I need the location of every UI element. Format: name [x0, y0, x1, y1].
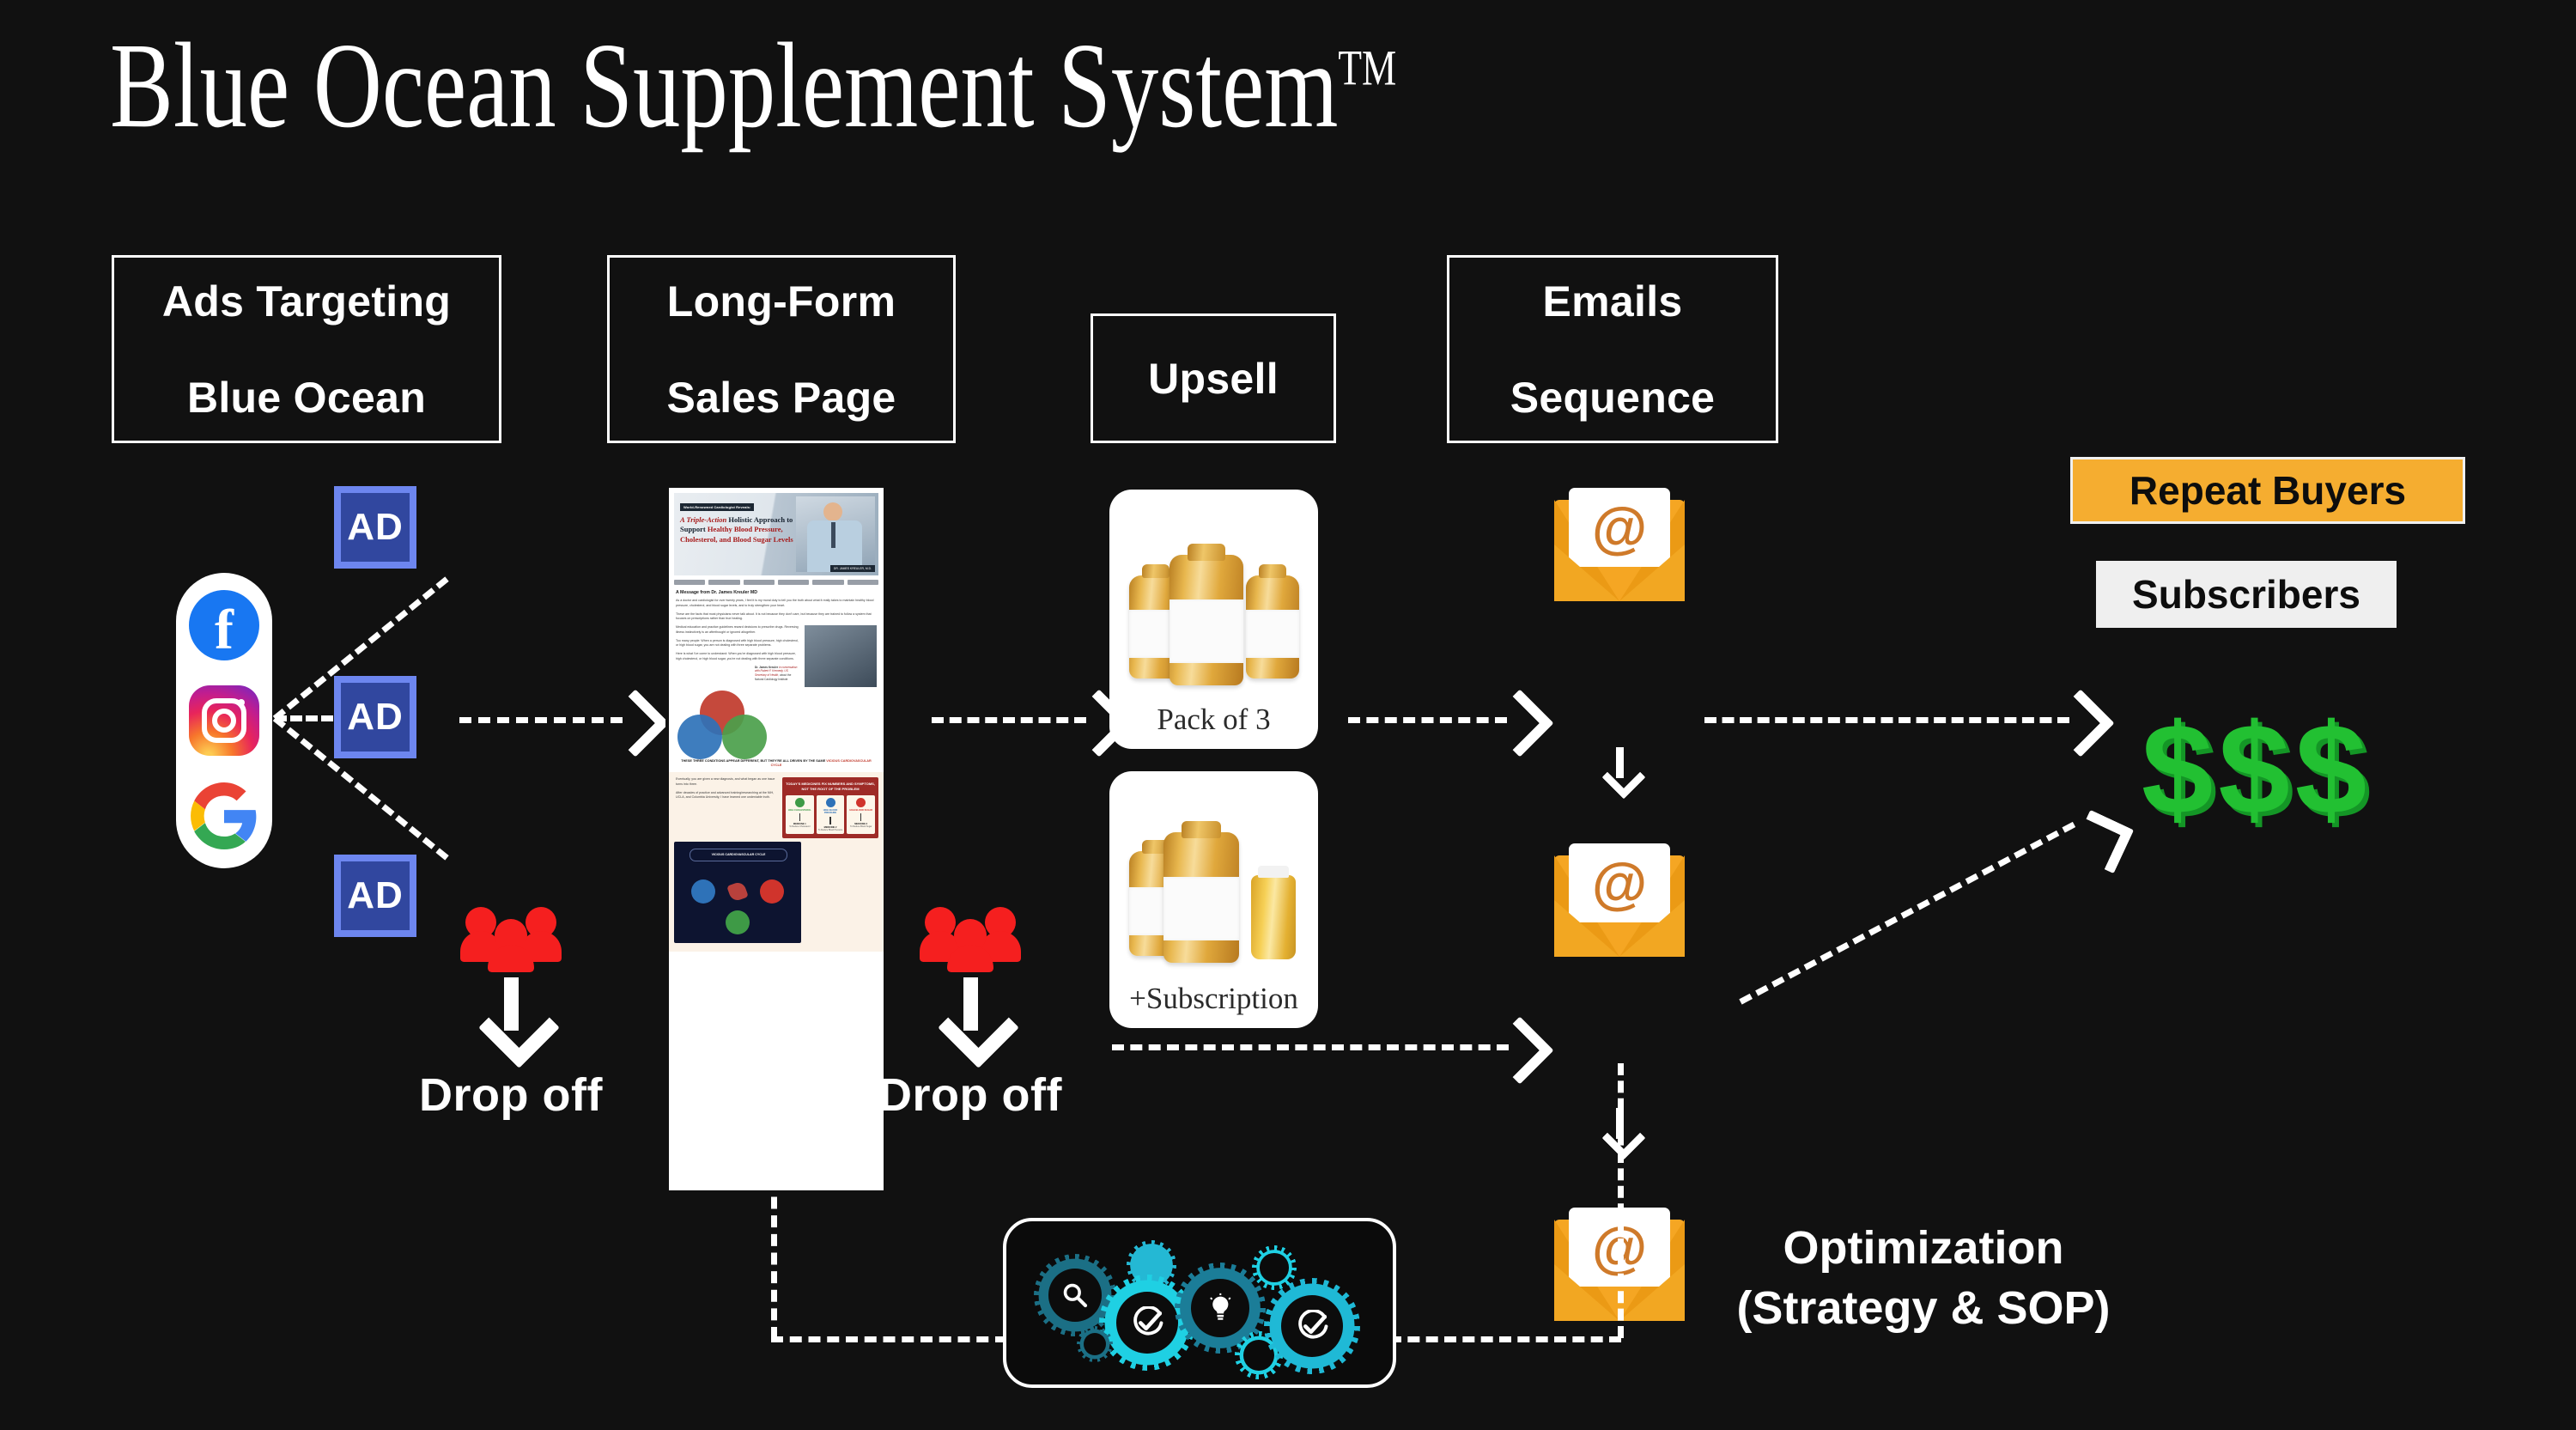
ad-tile-1-label: AD — [341, 493, 410, 562]
connector-upsell-to-emails — [1348, 717, 1507, 723]
cycle-infographic-title: VICIOUS CARDIOVASCULAR CYCLE — [690, 849, 787, 861]
instagram-lens — [212, 709, 236, 733]
drop-off-block-1: Drop off — [404, 902, 618, 1122]
bottles-group-2 — [1124, 813, 1304, 977]
connector-left-up — [771, 1123, 777, 1339]
trademark-symbol: TM — [1338, 40, 1396, 96]
page-title-text: Blue Ocean Supplement System — [110, 17, 1338, 153]
doctor-photo — [796, 496, 875, 572]
venn-caption: THESE THREE CONDITIONS APPEAR DIFFERENT,… — [676, 759, 877, 769]
google-g-glyph — [191, 782, 258, 849]
bottles-group-1 — [1124, 534, 1304, 697]
sales-page-hero: World-Renowned Cardiologist Reveals: A T… — [674, 493, 878, 575]
optimization-line2: (Strategy & SOP) — [1657, 1278, 2190, 1338]
drop-off-label-1: Drop off — [404, 1068, 618, 1122]
dollar-sign-2: $ — [2218, 704, 2289, 833]
connector-gears-to-left — [771, 1336, 1007, 1342]
drop-off-arrow-1 — [504, 977, 519, 1031]
ad-tile-2[interactable]: AD — [334, 676, 416, 758]
stage-header-emails-line2: Sequence — [1500, 374, 1726, 422]
sales-page-hero-headline: A Triple-Action Holistic Approach to Sup… — [680, 515, 796, 545]
medicine-card-3-sub: To Reduce Blood Sugar — [848, 825, 873, 828]
connector-email3-down — [1618, 1063, 1624, 1338]
press-logos — [674, 578, 878, 587]
venn-caption-2: DIFFERENT, BUT THEY'RE ALL DRIVEN BY THE… — [741, 759, 826, 763]
medicine-card-3: HIGH BLOOD SUGAR MEDICINE 3 To Reduce Bl… — [847, 795, 875, 834]
bottle-right — [1246, 575, 1299, 678]
sales-page-photo-2 — [805, 625, 877, 687]
upsell-product-1-caption: Pack of 3 — [1157, 703, 1270, 737]
medicines-red-box: TODAY'S MEDICINES FIX NUMBERS AND SYMPTO… — [782, 777, 878, 838]
sales-page-hero-badge: World-Renowned Cardiologist Reveals: — [680, 503, 754, 511]
red-box-title-1: TODAY'S MEDICINES FIX NUMBERS AND — [786, 782, 854, 786]
connector-sales-to-upsell — [932, 717, 1086, 723]
medicine-card-1-sub: To Reduce Cholesterol — [787, 825, 812, 828]
drop-off-block-2: Drop off — [863, 902, 1078, 1122]
email-flow-arrow-1 — [1616, 747, 1624, 778]
revenue-dollars: $ $ $ — [2142, 704, 2366, 833]
drop-off-people-icon-2 — [920, 902, 1021, 969]
connector-emails-to-revenue — [1704, 717, 2069, 723]
medicine-card-1-label: HIGH CHOLESTEROL — [787, 809, 812, 812]
facebook-icon[interactable]: f — [189, 590, 259, 660]
repeat-buyers-badge[interactable]: Repeat Buyers — [2070, 457, 2465, 524]
facebook-glyph: f — [215, 605, 234, 655]
arrow-head-email3-to-revenue — [2070, 810, 2134, 873]
stage-header-ads-line2: Blue Ocean — [152, 374, 461, 422]
drop-off-people-icon-1 — [460, 902, 562, 969]
medicine-card-2-sub: To Reduce Blood Pressure — [818, 829, 843, 831]
arrow-head-ads-to-sales — [601, 689, 669, 757]
ad-tile-1[interactable]: AD — [334, 486, 416, 569]
connector-social-to-ad2 — [275, 715, 333, 721]
stage-header-sales-line2: Sales Page — [656, 374, 906, 422]
headline-part-1: A Triple-Action — [680, 515, 726, 524]
arrow-head-emails-to-revenue — [2046, 689, 2114, 757]
check-circle-icon — [1131, 1306, 1164, 1340]
venn-circle-cholesterol — [722, 715, 767, 759]
amber-bottle — [1251, 875, 1296, 959]
cycle-node-sugar — [760, 879, 784, 904]
traffic-sources-stack: f — [176, 573, 272, 868]
heart-icon — [726, 880, 749, 903]
instagram-dot — [238, 699, 245, 706]
bottle-center — [1170, 555, 1243, 685]
upsell-product-subscription[interactable]: +Subscription — [1109, 771, 1318, 1028]
connector-email3-to-revenue — [1739, 822, 2075, 1005]
stage-header-emails[interactable]: Emails Sequence — [1447, 255, 1778, 443]
sales-page-subhead: A Message from Dr. James Kreuler MD — [676, 590, 877, 595]
venn-caption-1: THESE THREE CONDITIONS APPEAR — [681, 759, 739, 763]
headline-part-4: and Blood Sugar Levels — [720, 535, 793, 544]
doctor-nameplate: DR. JAMES KREULER, M.D. — [830, 565, 875, 572]
venn-circle-pressure — [677, 715, 722, 759]
check-circle-icon-2 — [1296, 1310, 1329, 1343]
arrow-head-dropoff2-to-email3 — [1485, 1016, 1553, 1084]
medicine-card-3-label: HIGH BLOOD SUGAR — [848, 809, 873, 812]
email-icon-1[interactable]: @ — [1554, 500, 1685, 601]
email-icon-2[interactable]: @ — [1554, 855, 1685, 957]
stage-header-sales-line1: Long-Form — [656, 277, 906, 326]
connector-ads-to-sales — [459, 717, 623, 723]
upsell-product-2-caption: +Subscription — [1129, 982, 1298, 1016]
dollar-sign-3: $ — [2295, 704, 2366, 833]
stage-header-ads-line1: Ads Targeting — [152, 277, 461, 326]
optimization-gears-panel[interactable] — [1003, 1218, 1396, 1388]
gear-check-right — [1264, 1278, 1360, 1374]
sales-page-band: TODAY'S MEDICINES FIX NUMBERS AND SYMPTO… — [669, 772, 884, 952]
drop-off-label-2: Drop off — [863, 1068, 1078, 1122]
upsell-product-pack-of-3[interactable]: Pack of 3 — [1109, 490, 1318, 749]
arrow-head-upsell-to-emails — [1485, 689, 1553, 757]
medicine-card-2: HIGH BLOOD PRESSURE MEDICINE 2 To Reduce… — [817, 795, 845, 834]
repeat-buyers-label: Repeat Buyers — [2129, 467, 2406, 514]
stage-header-ads[interactable]: Ads Targeting Blue Ocean — [112, 255, 501, 443]
venn-diagram — [674, 691, 770, 756]
dollar-sign-1: $ — [2142, 704, 2213, 833]
lightbulb-icon — [1205, 1293, 1236, 1324]
bottle-center-2 — [1163, 832, 1239, 963]
photo-caption-1: Dr. James Kreuler — [755, 666, 778, 669]
ad-tile-2-label: AD — [341, 683, 410, 752]
connector-right-to-gears — [1389, 1336, 1621, 1342]
medicine-card-2-label: HIGH BLOOD PRESSURE — [818, 809, 843, 815]
sales-page-mockup[interactable]: World-Renowned Cardiologist Reveals: A T… — [665, 484, 887, 1194]
subscribers-badge[interactable]: Subscribers — [2096, 561, 2397, 628]
cycle-infographic: VICIOUS CARDIOVASCULAR CYCLE — [674, 842, 801, 943]
drop-off-arrow-2 — [963, 977, 978, 1031]
subscribers-label: Subscribers — [2132, 571, 2360, 618]
medicine-card-1: HIGH CHOLESTEROL MEDICINE 1 To Reduce Ch… — [786, 795, 814, 834]
optimization-line1: Optimization — [1657, 1218, 2190, 1278]
optimization-label: Optimization (Strategy & SOP) — [1657, 1218, 2190, 1338]
gear-small-bottom-left — [1077, 1326, 1113, 1362]
connector-dropoff2-to-email3 — [1112, 1044, 1509, 1050]
search-icon — [1060, 1281, 1089, 1309]
stage-header-sales-page[interactable]: Long-Form Sales Page — [607, 255, 956, 443]
cycle-node-pressure — [691, 879, 715, 904]
sales-page-para-2: These are the facts that most physicians… — [676, 612, 877, 623]
stage-header-upsell[interactable]: Upsell — [1091, 313, 1336, 443]
cycle-node-cholesterol — [726, 910, 750, 934]
page-title: Blue Ocean Supplement SystemTM — [110, 24, 1396, 146]
stage-header-emails-line1: Emails — [1500, 277, 1726, 326]
google-icon[interactable] — [189, 781, 259, 851]
stage-header-upsell-line1: Upsell — [1138, 355, 1289, 403]
instagram-icon[interactable] — [189, 685, 259, 756]
sales-page-para-1: As a doctor and cardiologist for over tw… — [676, 599, 877, 609]
ad-tile-3-label: AD — [341, 861, 410, 930]
